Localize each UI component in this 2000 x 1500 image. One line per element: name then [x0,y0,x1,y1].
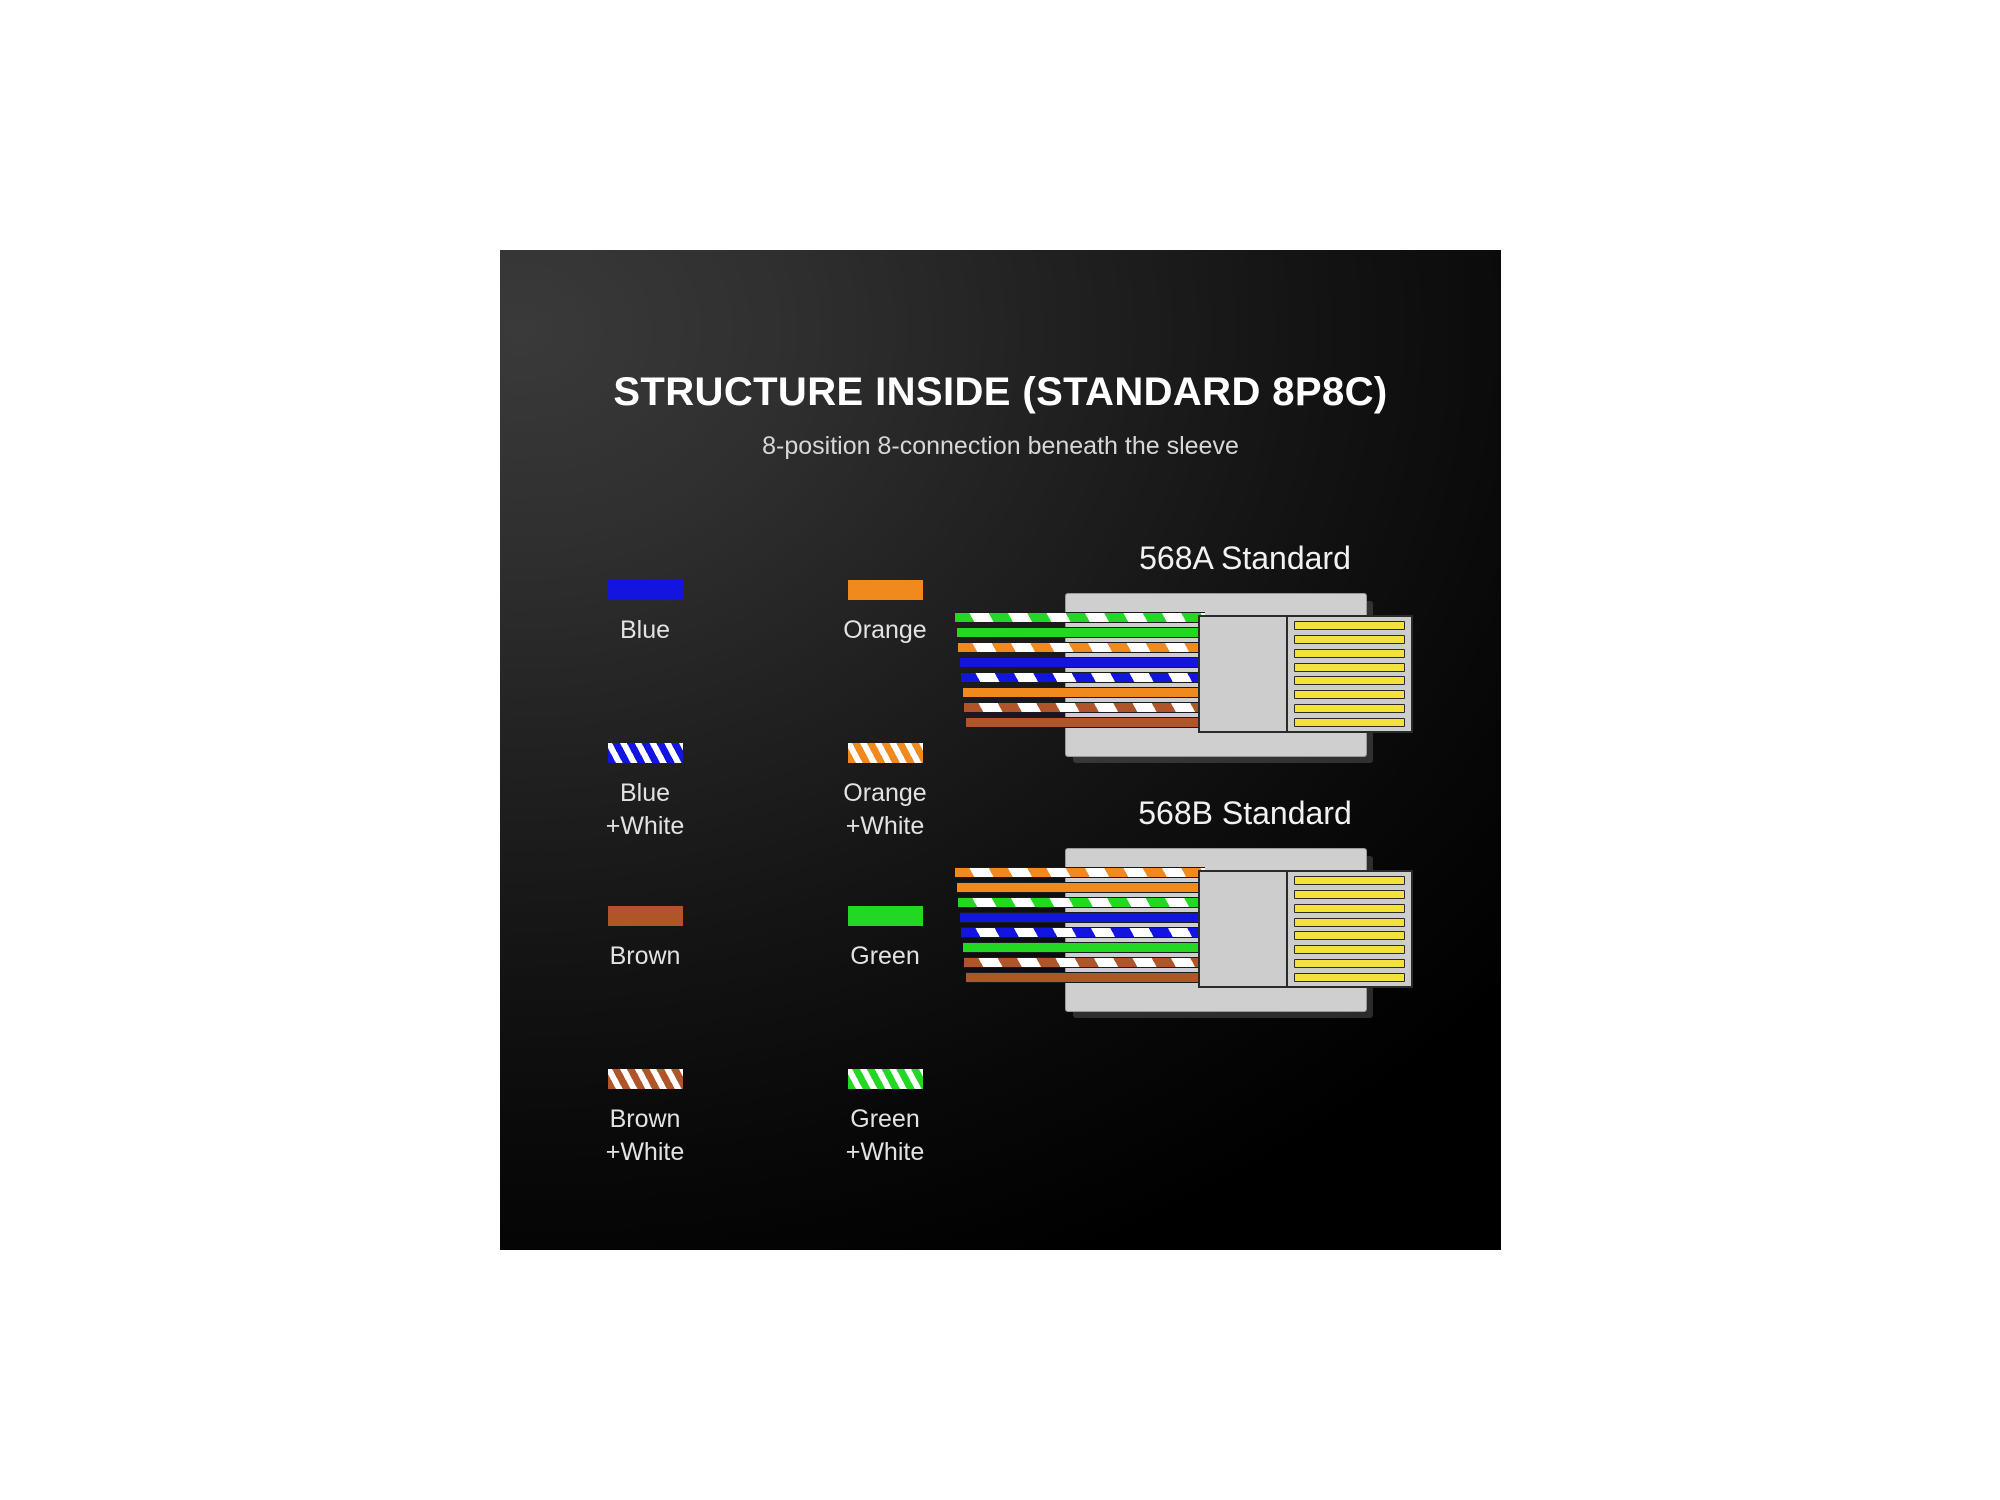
legend-row: BrownGreen [555,906,975,1069]
legend-item: Blue [555,580,735,647]
wire-3 [958,642,1205,653]
wire-5 [961,672,1205,683]
wire-2 [957,882,1206,893]
legend-item: Brown [555,906,735,973]
page-title: STRUCTURE INSIDE (STANDARD 8P8C) [500,370,1501,415]
wire-color-swatch [848,1069,923,1089]
cavity-wire-channel [1200,617,1288,731]
wire-color-swatch [848,906,923,926]
gold-pin-6 [1294,690,1405,699]
image-canvas: STRUCTURE INSIDE (STANDARD 8P8C) 8-posit… [0,0,2000,1500]
legend-item: Green +White [795,1069,975,1169]
page-subtitle: 8-position 8-connection beneath the slee… [500,432,1501,461]
legend-item-label: Green +White [795,1103,975,1169]
gold-pin-2 [1294,890,1405,899]
gold-pin-1 [1294,621,1405,630]
wire-color-swatch [608,743,683,763]
wire-6 [963,687,1206,698]
connector-title: 568A Standard [1015,540,1475,577]
gold-pin-7 [1294,959,1405,968]
legend-row: Blue +WhiteOrange +White [555,743,975,906]
wire-2 [957,627,1206,638]
structure-info-panel: STRUCTURE INSIDE (STANDARD 8P8C) 8-posit… [500,250,1501,1250]
gold-pin-2 [1294,635,1405,644]
legend-row: Brown +WhiteGreen +White [555,1069,975,1232]
connector-cavity [1198,870,1413,988]
wire-8 [966,972,1206,983]
connector-artwork [955,848,1475,1010]
wire-8 [966,717,1206,728]
legend-item: Brown +White [555,1069,735,1169]
legend-item: Orange +White [795,743,975,843]
gold-pin-8 [1294,973,1405,982]
legend-item: Green [795,906,975,973]
legend-item-label: Blue [555,614,735,647]
legend-item-label: Brown [555,940,735,973]
connector-diagram-568b: 568B Standard [955,795,1475,1010]
wire-color-swatch [848,580,923,600]
wire-bundle [955,612,1205,736]
gold-pin-6 [1294,945,1405,954]
pin-contact-array [1288,872,1411,986]
gold-pin-7 [1294,704,1405,713]
wire-color-legend: BlueOrangeBlue +WhiteOrange +WhiteBrownG… [555,580,975,1232]
legend-item-label: Orange +White [795,777,975,843]
legend-item-label: Brown +White [555,1103,735,1169]
gold-pin-8 [1294,718,1405,727]
gold-pin-4 [1294,663,1405,672]
legend-item-label: Blue +White [555,777,735,843]
wire-1 [955,612,1205,623]
wire-1 [955,867,1205,878]
gold-pin-5 [1294,676,1405,685]
wire-7 [964,702,1205,713]
connector-artwork [955,593,1475,755]
wire-color-swatch [608,1069,683,1089]
pin-contact-array [1288,617,1411,731]
gold-pin-1 [1294,876,1405,885]
cavity-wire-channel [1200,872,1288,986]
gold-pin-3 [1294,649,1405,658]
gold-pin-4 [1294,918,1405,927]
legend-item: Orange [795,580,975,647]
wire-5 [961,927,1205,938]
legend-item: Blue +White [555,743,735,843]
gold-pin-5 [1294,931,1405,940]
legend-item-label: Green [795,940,975,973]
legend-row: BlueOrange [555,580,975,743]
wire-4 [960,657,1206,668]
connector-cavity [1198,615,1413,733]
legend-item-label: Orange [795,614,975,647]
connector-title: 568B Standard [1015,795,1475,832]
wire-color-swatch [608,906,683,926]
wire-6 [963,942,1206,953]
wire-color-swatch [608,580,683,600]
wire-7 [964,957,1205,968]
wire-bundle [955,867,1205,991]
wire-3 [958,897,1205,908]
wire-color-swatch [848,743,923,763]
gold-pin-3 [1294,904,1405,913]
connector-diagram-568a: 568A Standard [955,540,1475,755]
wire-4 [960,912,1206,923]
